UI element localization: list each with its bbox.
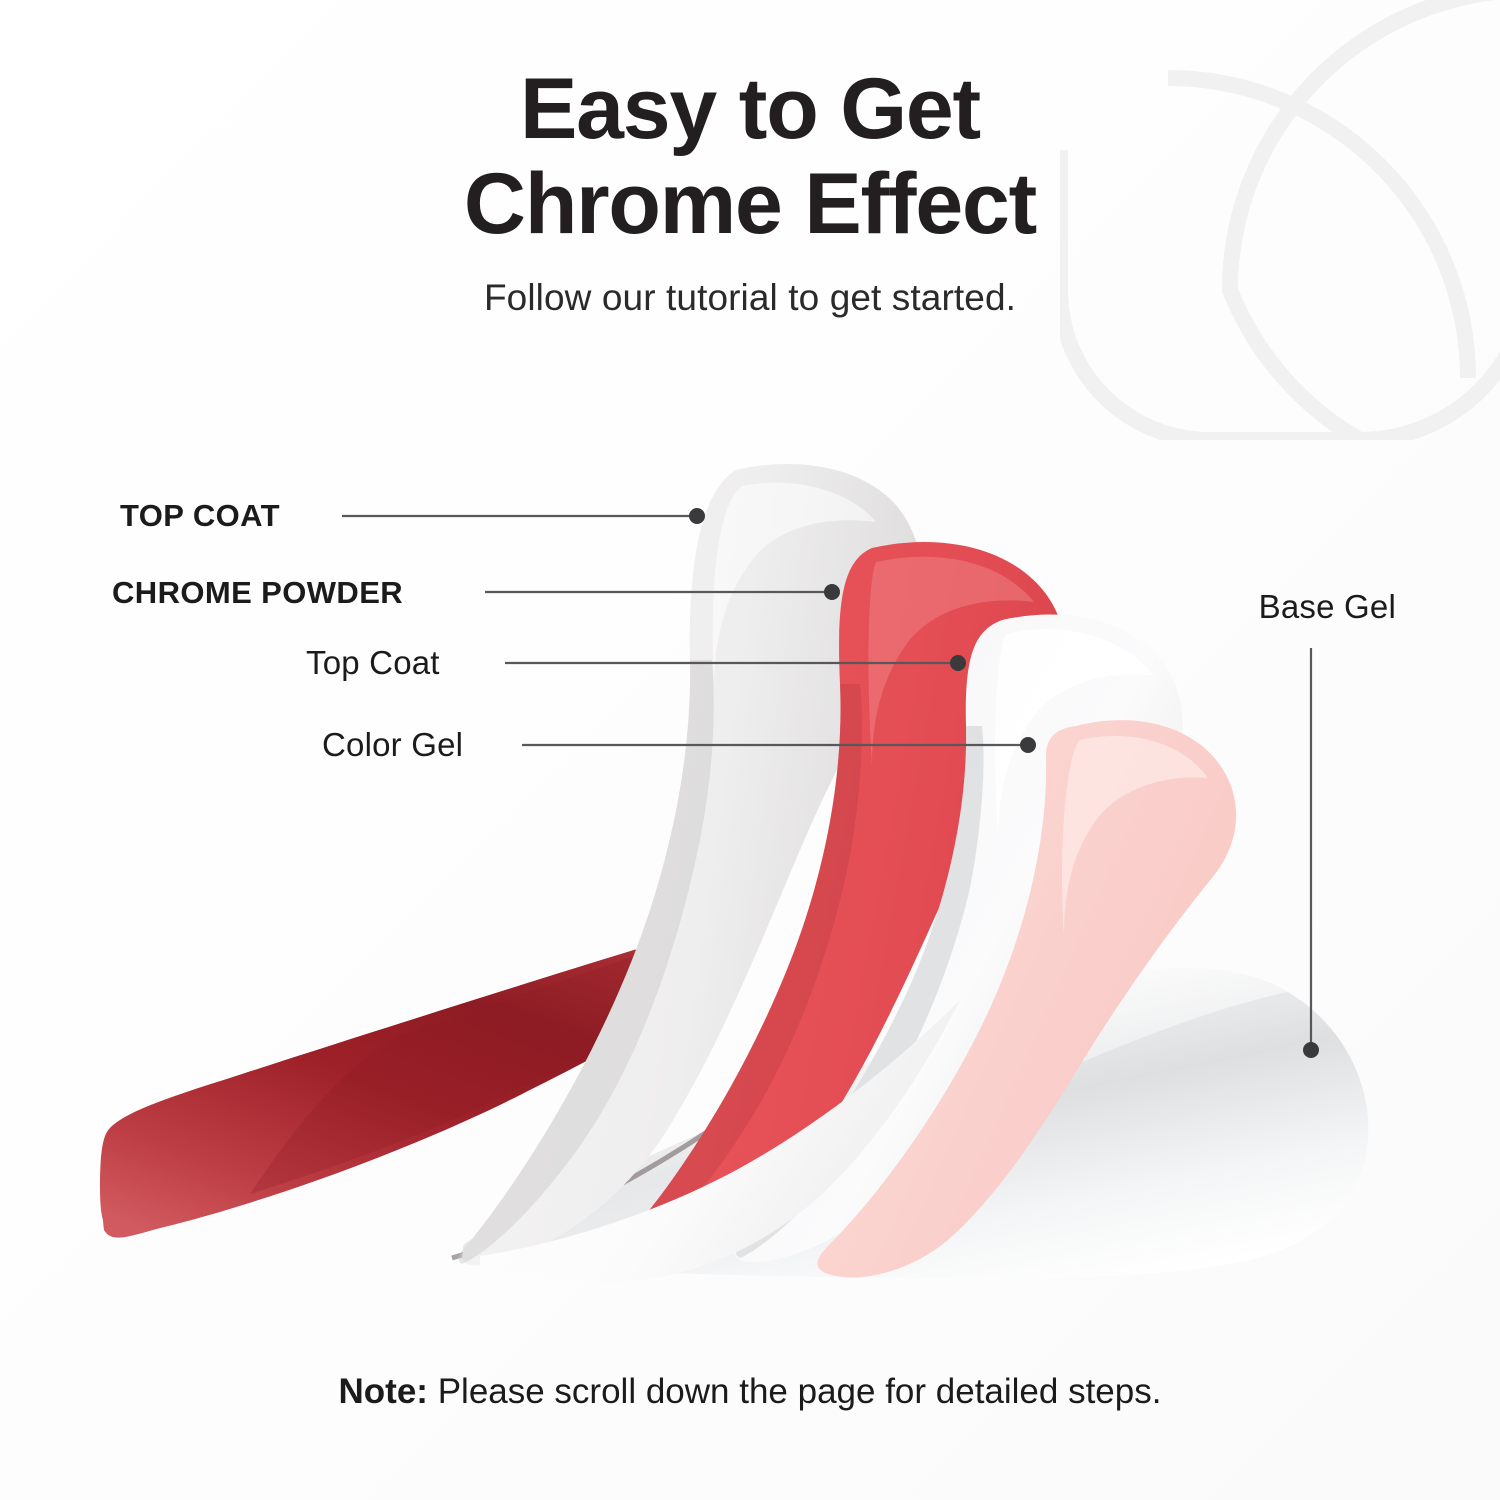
label-chrome-powder: CHROME POWDER <box>112 575 403 611</box>
label-top-coat-outer: TOP COAT <box>120 498 280 534</box>
page-title: Easy to Get Chrome Effect <box>0 62 1500 253</box>
header: Easy to Get Chrome Effect Follow our tut… <box>0 62 1500 319</box>
leader-dot-chrome-powder <box>824 584 840 600</box>
footer-note-prefix: Note: <box>339 1372 428 1411</box>
poster-canvas: Easy to Get Chrome Effect Follow our tut… <box>0 0 1500 1500</box>
leader-dot-top-coat-inner <box>950 655 966 671</box>
label-base-gel: Base Gel <box>1259 588 1396 626</box>
leader-dot-top-coat-outer <box>689 508 705 524</box>
page-subtitle: Follow our tutorial to get started. <box>0 277 1500 319</box>
label-color-gel: Color Gel <box>322 726 463 764</box>
leader-dot-color-gel <box>1020 737 1036 753</box>
footer-note: Note: Please scroll down the page for de… <box>0 1372 1500 1412</box>
leader-dot-base-gel <box>1303 1042 1319 1058</box>
label-top-coat-inner: Top Coat <box>306 644 440 682</box>
footer-note-text: Please scroll down the page for detailed… <box>428 1372 1162 1411</box>
